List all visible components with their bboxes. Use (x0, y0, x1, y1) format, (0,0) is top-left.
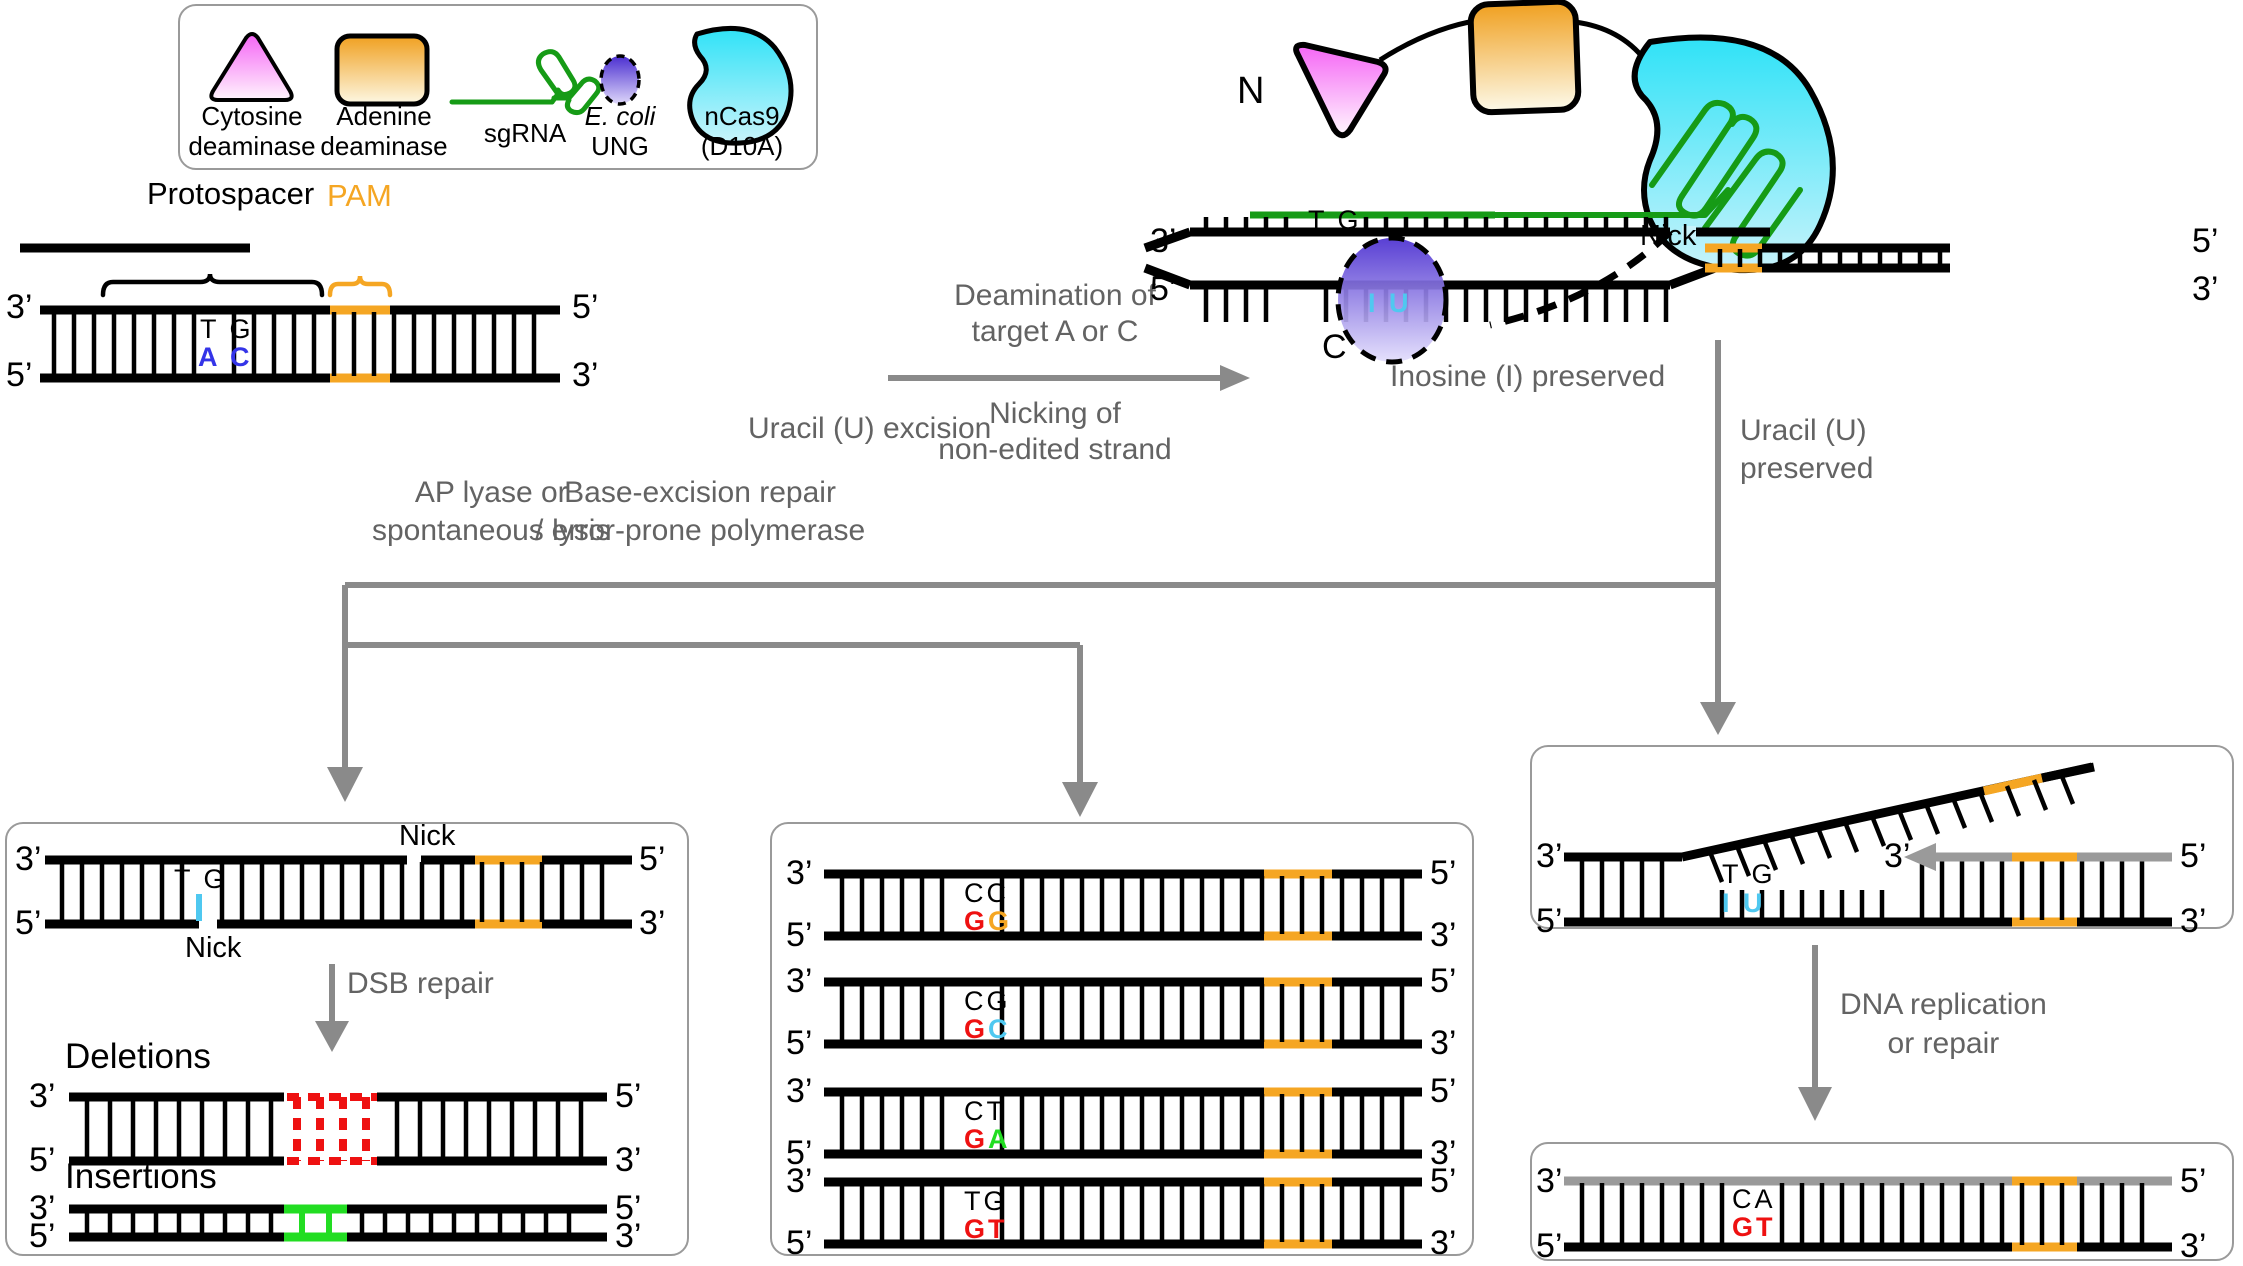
base-bottom-1: G (964, 1014, 988, 1044)
complex-prime-5-left: 5’ (1150, 270, 1176, 309)
legend-line1: Cytosine (201, 101, 302, 131)
row-prime-bl: 5’ (786, 1224, 812, 1263)
panel-left-prime-tl: 3’ (15, 840, 41, 879)
panel-right-bases-bottom: I U (1722, 888, 1766, 919)
insertions-prime-br: 3’ (615, 1217, 641, 1256)
legend-line1: Adenine (336, 101, 431, 131)
uracil-excision-label: Uracil (U) excision (748, 412, 991, 446)
final-bases-bottom: GT (1732, 1212, 1776, 1243)
cytosine-deaminase-shape (1296, 45, 1385, 135)
row-prime-br: 3’ (1430, 1024, 1456, 1063)
base-top-1: C (964, 1096, 987, 1126)
final-prime-bl: 5’ (1536, 1227, 1562, 1266)
legend-line2: (D10A) (701, 131, 783, 161)
ecoli-ung-icon (601, 56, 639, 104)
panel-right-prime-bl: 5’ (1536, 902, 1562, 941)
panel-right-prime-mid: 3’ (1884, 837, 1910, 876)
duplex-row: 3’5’5’3’CGGC (772, 972, 1472, 1050)
ber-line1: Base-excision repair (564, 476, 836, 509)
uracil-preserved-label: Uracil (U) preserved (1740, 412, 1873, 487)
row-prime-tr: 5’ (1430, 962, 1456, 1001)
deletion-region (287, 1097, 377, 1161)
deletions-title: Deletions (65, 1037, 211, 1077)
legend-line2: UNG (591, 131, 649, 161)
base-top-2: T (987, 1096, 1007, 1126)
deletions-prime-tl: 3’ (29, 1077, 55, 1116)
insertions-prime-bl: 5’ (29, 1217, 55, 1256)
panel-right-prime-tr: 5’ (2180, 837, 2206, 876)
dna-replication-label: DNA replication or repair (1840, 985, 2047, 1063)
base-bottom-2: G (988, 906, 1012, 936)
row-bases-top: CC (964, 878, 1009, 909)
legend-line1: nCas9 (704, 101, 779, 131)
base-bottom-2: C (988, 1014, 1011, 1044)
base-bottom-1: G (964, 906, 988, 936)
final-prime-br: 3’ (2180, 1227, 2206, 1266)
final-prime-tl: 3’ (1536, 1162, 1562, 1201)
row-bases-top: TG (964, 1186, 1008, 1217)
panel-right-prime-br: 3’ (2180, 902, 2206, 941)
legend-label-adenine-deaminase: Adenine deaminase (314, 102, 454, 162)
protospacer-brace (103, 274, 322, 295)
row-prime-bl: 5’ (786, 916, 812, 955)
row-prime-br: 3’ (1430, 1224, 1456, 1263)
protospacer-label: Protospacer (147, 176, 314, 212)
arrow-line-1: Deamination of (954, 279, 1156, 312)
final-base-bottom-2: T (1756, 1212, 1776, 1242)
row-prime-tr: 5’ (1430, 854, 1456, 893)
panel-middle-ber-outcomes: 3’5’5’3’CCGG3’5’5’3’CGGC3’5’5’3’CTGA3’5’… (770, 822, 1474, 1256)
legend-label-ecoli-ung: E. coli UNG (570, 102, 670, 162)
base-top-2: C (987, 878, 1010, 908)
row-bases-top: CT (964, 1096, 1006, 1127)
ber-label: Base-excision repair / error-prone polym… (535, 474, 865, 549)
row-prime-bl: 5’ (786, 1024, 812, 1063)
base-top-1: C (964, 878, 987, 908)
final-bases-top: CA (1732, 1184, 1776, 1215)
base-bottom-1: G (964, 1124, 988, 1154)
dsb-repair-label: DSB repair (347, 967, 494, 1001)
base-bottom-2: A (988, 1124, 1011, 1154)
complex-prime-3-right: 3’ (2192, 270, 2218, 309)
legend-panel: Cytosine deaminase Adenine deaminase sgR… (178, 4, 818, 170)
row-bases-bottom: GG (964, 906, 1012, 937)
row-bases-bottom: GA (964, 1124, 1011, 1155)
pam-brace (330, 276, 390, 295)
final-duplex-rungs (1582, 1183, 2142, 1245)
panel-left-rungs-0 (62, 862, 602, 922)
base-bottom-2: T (988, 1214, 1008, 1244)
adenine-deaminase-shape (1470, 1, 1579, 113)
final-prime-tr: 5’ (2180, 1162, 2206, 1201)
row-prime-tl: 3’ (786, 962, 812, 1001)
complex-bases-bottom: I U (1368, 288, 1412, 319)
nick-label-bottom-left: Nick (185, 932, 241, 965)
legend-label-ncas9: nCas9 (D10A) (672, 102, 812, 162)
dna-replication-line2: or repair (1840, 1024, 2047, 1063)
legend-label-cytosine-deaminase: Cytosine deaminase (188, 102, 316, 162)
panel-left-bases-top: T G (174, 864, 228, 895)
panel-right-bases-top: T G (1722, 859, 1776, 890)
uracil-preserved-line2: preserved (1740, 452, 1873, 485)
prime-3-left: 3’ (6, 288, 32, 327)
row-prime-tl: 3’ (786, 1072, 812, 1111)
row-prime-tr: 5’ (1430, 1162, 1456, 1201)
prime-5-right: 5’ (572, 288, 598, 327)
adenine-deaminase-icon (337, 36, 427, 104)
duplex-row: 3’5’5’3’CTGA (772, 1082, 1472, 1160)
base-top-1: T (964, 1186, 984, 1216)
complex-prime-3-left: 3’ (1150, 222, 1176, 261)
panel-right-rungs (1582, 859, 2142, 920)
row-prime-tl: 3’ (786, 854, 812, 893)
panel-left-prime-bl: 5’ (15, 904, 41, 943)
legend-line1: E. coli (585, 101, 656, 131)
row-prime-tl: 3’ (786, 1162, 812, 1201)
base-bottom-1: G (964, 1214, 988, 1244)
panel-left-prime-br: 3’ (639, 904, 665, 943)
nick-label-top-left: Nick (399, 820, 455, 853)
final-base-top-2: A (1755, 1184, 1776, 1214)
pam-label: PAM (327, 178, 392, 214)
panel-right-replication: 3’ 5’ 3’ 5’ 3’ T G I U (1530, 745, 2234, 929)
legend-line2: deaminase (188, 131, 315, 161)
row-bases-top: CG (964, 986, 1011, 1017)
panel-right-prime-tl: 3’ (1536, 837, 1562, 876)
insertions-title: Insertions (65, 1157, 217, 1197)
deletions-prime-bl: 5’ (29, 1141, 55, 1180)
dna-replication-line1: DNA replication (1840, 988, 2047, 1021)
duplex-row: 3’5’5’3’CCGG (772, 864, 1472, 942)
panel-left-indels: Nick Nick T G 3’ 5’ 5’ 3’ DSB repair Del… (5, 822, 689, 1256)
legend-line2: deaminase (320, 131, 447, 161)
base-top-1: C (964, 986, 987, 1016)
ber-line2: / error-prone polymerase (535, 514, 865, 547)
inosine-preserved-label: Inosine (I) preserved (1390, 360, 1665, 394)
row-prime-br: 3’ (1430, 916, 1456, 955)
panel-left-prime-tr: 5’ (639, 840, 665, 879)
final-base-bottom-1: G (1732, 1212, 1756, 1242)
nick-label-complex: Nick (1640, 220, 1696, 253)
cytosine-deaminase-icon (211, 34, 291, 100)
complex-prime-5-right: 5’ (2192, 222, 2218, 261)
deletions-rungs (87, 1099, 581, 1159)
legend-line1: sgRNA (484, 118, 566, 148)
deletions-prime-br: 3’ (615, 1141, 641, 1180)
base-top-2: G (984, 1186, 1008, 1216)
complex-bases-top: T G (1308, 205, 1362, 236)
uracil-preserved-line1: Uracil (U) (1740, 414, 1867, 447)
row-prime-tr: 5’ (1430, 1072, 1456, 1111)
final-base-top-1: C (1732, 1184, 1755, 1214)
row-bases-bottom: GC (964, 1014, 1011, 1045)
panel-right-final-duplex: 3’ 5’ 5’ 3’ CA GT (1530, 1142, 2234, 1261)
base-top-2: G (987, 986, 1011, 1016)
deletions-prime-tr: 5’ (615, 1077, 641, 1116)
row-bases-bottom: GT (964, 1214, 1008, 1245)
duplex-row: 3’5’5’3’TGGT (772, 1172, 1472, 1250)
n-terminus-label: N (1237, 70, 1264, 113)
